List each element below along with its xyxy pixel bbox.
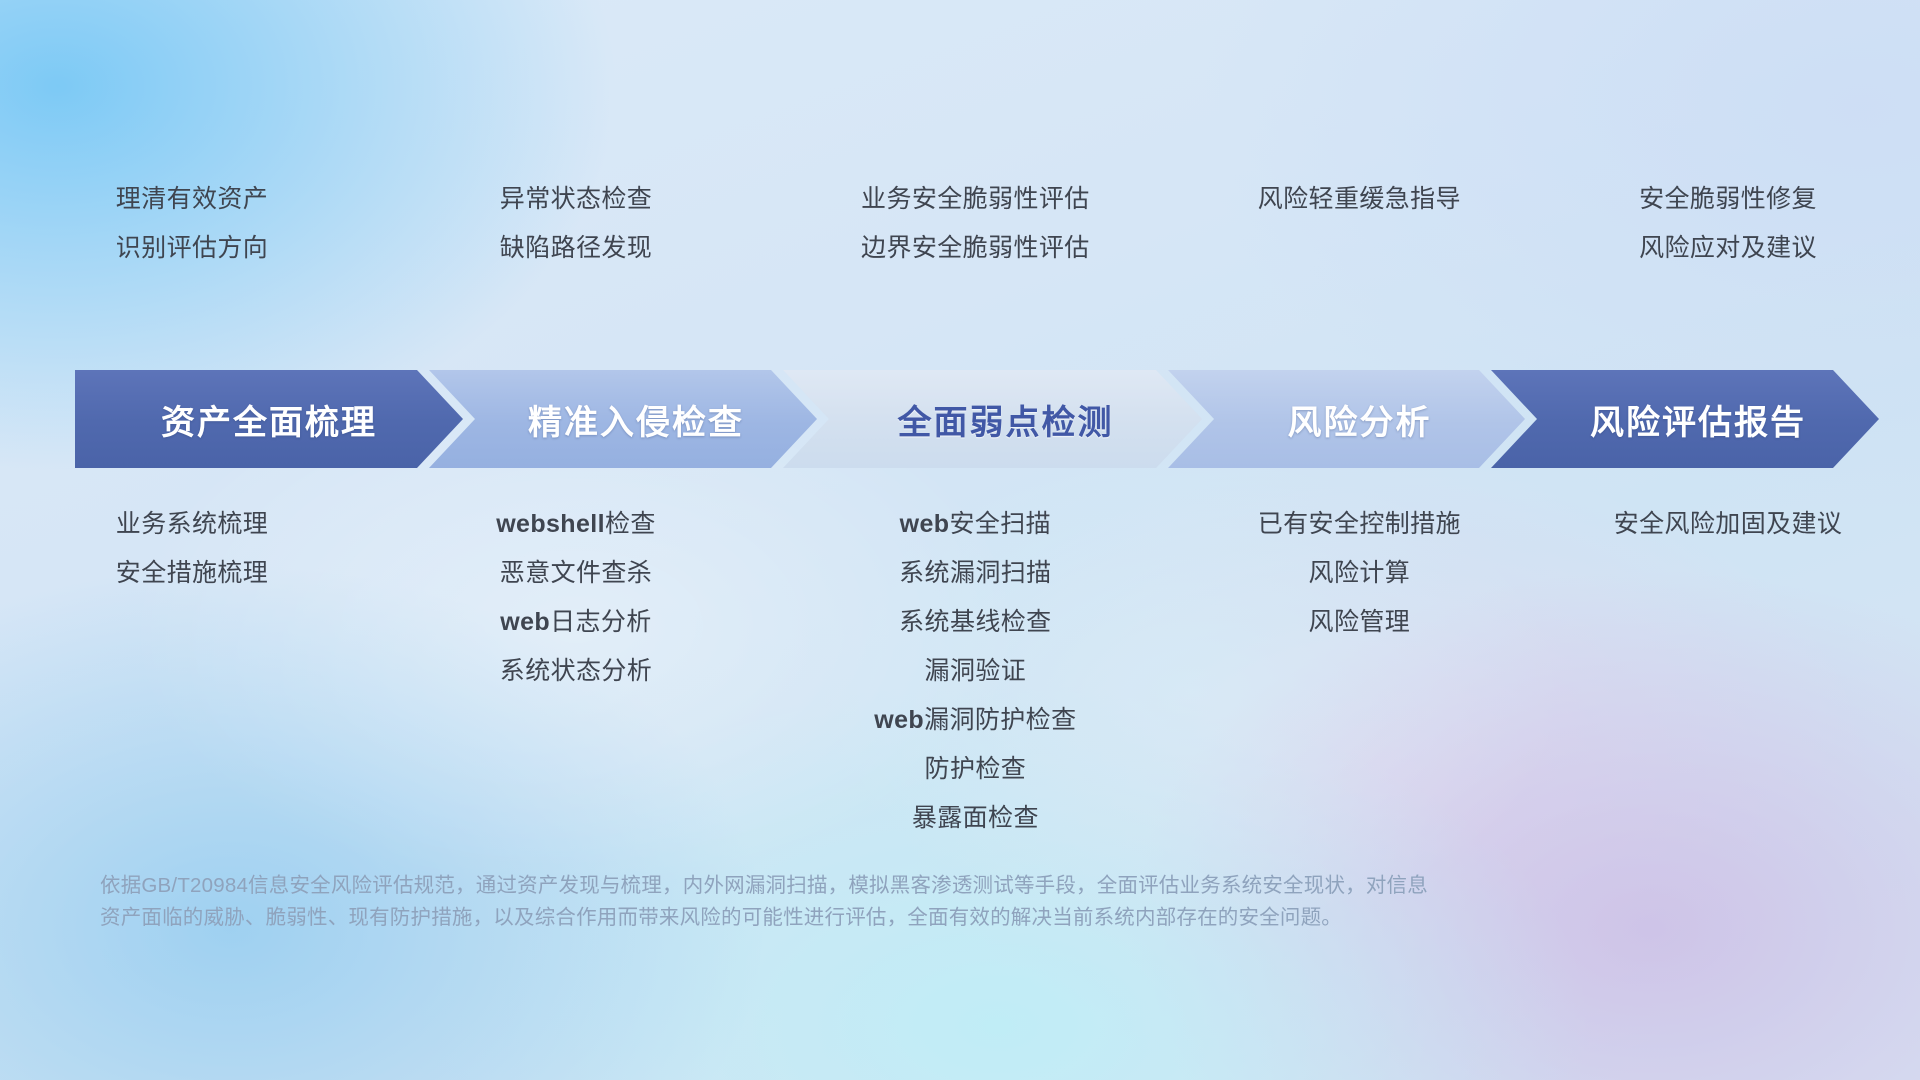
process-stage-4[interactable]: 风险分析 [1168, 370, 1525, 468]
caption-line: 识别评估方向 [116, 224, 268, 273]
process-stage-label: 精准入侵检查 [528, 395, 744, 444]
caption-line: 系统漏洞扫描 [899, 549, 1051, 598]
caption-line: 风险计算 [1309, 549, 1411, 598]
process-stage-1[interactable]: 资产全面梳理 [75, 370, 463, 468]
process-chevron-band: 资产全面梳理精准入侵检查全面弱点检测风险分析风险评估报告 [75, 370, 1845, 468]
caption-line: 系统状态分析 [500, 647, 652, 696]
caption-line: 异常状态检查 [500, 175, 652, 224]
caption-line: 防护检查 [925, 745, 1027, 794]
footer-line-2: 资产面临的威胁、脆弱性、现有防护措施，以及综合作用而带来风险的可能性进行评估，全… [100, 902, 1660, 934]
caption-line: 边界安全脆弱性评估 [861, 224, 1090, 273]
top-caption-col-4: 风险轻重缓急指导 [1183, 175, 1536, 285]
caption-line: 暴露面检查 [912, 794, 1039, 843]
footer-line-1: 依据GB/T20984信息安全风险评估规范，通过资产发现与梳理，内外网漏洞扫描，… [100, 870, 1660, 902]
top-caption-row: 理清有效资产识别评估方向异常状态检查缺陷路径发现业务安全脆弱性评估边界安全脆弱性… [0, 175, 1920, 285]
caption-line: 业务系统梳理 [116, 500, 268, 549]
process-stage-label: 资产全面梳理 [161, 395, 377, 444]
caption-line: 风险应对及建议 [1639, 224, 1817, 273]
bottom-caption-row: 业务系统梳理安全措施梳理webshell检查恶意文件查杀web日志分析系统状态分… [0, 500, 1920, 850]
bottom-caption-col-2: webshell检查恶意文件查杀web日志分析系统状态分析 [384, 500, 768, 696]
top-caption-col-3: 业务安全脆弱性评估边界安全脆弱性评估 [768, 175, 1183, 285]
caption-line: web漏洞防护检查 [874, 696, 1076, 745]
process-stage-5[interactable]: 风险评估报告 [1491, 370, 1879, 468]
caption-line: 已有安全控制措施 [1258, 500, 1461, 549]
top-caption-col-2: 异常状态检查缺陷路径发现 [384, 175, 768, 285]
top-caption-col-1: 理清有效资产识别评估方向 [0, 175, 384, 285]
footer-description: 依据GB/T20984信息安全风险评估规范，通过资产发现与梳理，内外网漏洞扫描，… [100, 870, 1660, 934]
process-stage-3[interactable]: 全面弱点检测 [783, 370, 1202, 468]
bottom-caption-col-4: 已有安全控制措施风险计算风险管理 [1183, 500, 1536, 647]
caption-line: 安全措施梳理 [116, 549, 268, 598]
caption-line: 风险轻重缓急指导 [1258, 175, 1461, 224]
caption-line: 风险管理 [1309, 598, 1411, 647]
caption-line: web日志分析 [500, 598, 651, 647]
process-stage-2[interactable]: 精准入侵检查 [429, 370, 817, 468]
caption-line: 缺陷路径发现 [500, 224, 652, 273]
caption-line: web安全扫描 [900, 500, 1051, 549]
process-stage-label: 风险分析 [1288, 395, 1432, 444]
caption-line: 漏洞验证 [925, 647, 1027, 696]
caption-line: webshell检查 [496, 500, 656, 549]
caption-line: 安全脆弱性修复 [1639, 175, 1817, 224]
caption-line: 恶意文件查杀 [500, 549, 652, 598]
diagram-canvas: 理清有效资产识别评估方向异常状态检查缺陷路径发现业务安全脆弱性评估边界安全脆弱性… [0, 0, 1920, 1080]
process-stage-label: 风险评估报告 [1590, 395, 1806, 444]
bottom-caption-col-5: 安全风险加固及建议 [1536, 500, 1920, 549]
caption-line: 业务安全脆弱性评估 [861, 175, 1090, 224]
caption-line: 安全风险加固及建议 [1614, 500, 1843, 549]
caption-line: 系统基线检查 [899, 598, 1051, 647]
top-caption-col-5: 安全脆弱性修复风险应对及建议 [1536, 175, 1920, 285]
process-stage-label: 全面弱点检测 [898, 395, 1114, 444]
caption-line: 理清有效资产 [116, 175, 268, 224]
bottom-caption-col-3: web安全扫描系统漏洞扫描系统基线检查漏洞验证web漏洞防护检查防护检查暴露面检… [768, 500, 1183, 843]
bottom-caption-col-1: 业务系统梳理安全措施梳理 [0, 500, 384, 598]
